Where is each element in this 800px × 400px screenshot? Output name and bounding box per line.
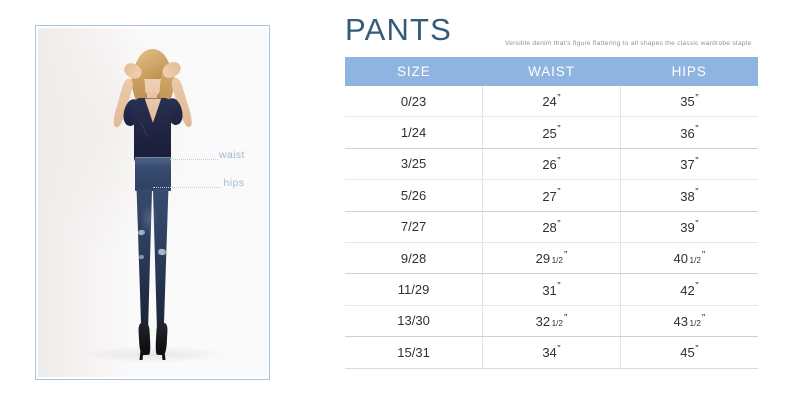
table-row: 7/2728”39” (345, 211, 758, 242)
cell-size: 1/24 (345, 117, 483, 148)
cell-hips: 42” (620, 274, 758, 305)
hips-label: hips (223, 177, 244, 189)
cell-hips: 39” (620, 211, 758, 242)
model-figure (38, 28, 267, 377)
boot-heel-left (139, 350, 144, 360)
inch-symbol: ” (557, 156, 560, 167)
cell-size: 5/26 (345, 180, 483, 211)
inch-symbol: ” (557, 344, 560, 355)
table-body: 0/2324”35”1/2425”36”3/2526”37”5/2627”38”… (345, 86, 758, 368)
fraction: 1/2 (690, 256, 701, 265)
page-subtitle: Versitile denim that's figure flattering… (505, 40, 751, 47)
table-row: 13/30321/2”431/2” (345, 305, 758, 336)
inch-symbol: ” (695, 344, 698, 355)
cell-waist: 27” (483, 180, 621, 211)
inch-symbol: ” (695, 93, 698, 104)
table-row: 9/28291/2”401/2” (345, 242, 758, 273)
cell-size: 9/28 (345, 242, 483, 273)
inch-symbol: ” (695, 156, 698, 167)
page-title: PANTS (345, 14, 452, 45)
fraction: 1/2 (690, 319, 701, 328)
cell-hips: 45” (620, 337, 758, 368)
denim-rip-2 (158, 248, 166, 255)
inch-symbol: ” (564, 313, 567, 324)
cell-size: 13/30 (345, 305, 483, 336)
cell-waist: 321/2” (483, 305, 621, 336)
chart-header: PANTS Versitile denim that's figure flat… (345, 14, 758, 45)
inch-symbol: ” (702, 313, 705, 324)
inch-symbol: ” (702, 250, 705, 261)
cell-waist: 291/2” (483, 242, 621, 273)
waist-leader-line (170, 159, 218, 160)
fraction: 1/2 (552, 256, 563, 265)
table-row: 0/2324”35” (345, 86, 758, 117)
cell-size: 11/29 (345, 274, 483, 305)
table-row: 11/2931”42” (345, 274, 758, 305)
inch-symbol: ” (695, 187, 698, 198)
table-row: 5/2627”38” (345, 180, 758, 211)
cell-waist: 26” (483, 148, 621, 179)
size-chart-table: SIZE WAIST HIPS 0/2324”35”1/2425”36”3/25… (345, 57, 758, 369)
table-header-row: SIZE WAIST HIPS (345, 57, 758, 86)
cell-waist: 31” (483, 274, 621, 305)
cell-hips: 401/2” (620, 242, 758, 273)
column-header-size: SIZE (345, 57, 483, 86)
table-row: 1/2425”36” (345, 117, 758, 148)
inch-symbol: ” (564, 250, 567, 261)
column-header-waist: WAIST (483, 57, 621, 86)
inch-symbol: ” (695, 124, 698, 135)
cell-hips: 37” (620, 148, 758, 179)
cell-waist: 28” (483, 211, 621, 242)
model-photo: waist hips (38, 28, 267, 377)
table-row: 15/3134”45” (345, 337, 758, 368)
cell-waist: 34” (483, 337, 621, 368)
size-chart-page: waist hips PANTS Versitile denim that's … (0, 0, 800, 400)
cell-size: 0/23 (345, 86, 483, 117)
table-row: 3/2526”37” (345, 148, 758, 179)
inch-symbol: ” (557, 93, 560, 104)
column-header-hips: HIPS (620, 57, 758, 86)
inch-symbol: ” (695, 281, 698, 292)
cell-hips: 36” (620, 117, 758, 148)
cell-size: 15/31 (345, 337, 483, 368)
cell-hips: 35” (620, 86, 758, 117)
cell-size: 7/27 (345, 211, 483, 242)
inch-symbol: ” (557, 281, 560, 292)
inch-symbol: ” (557, 187, 560, 198)
cell-hips: 431/2” (620, 305, 758, 336)
cell-waist: 25” (483, 117, 621, 148)
cell-size: 3/25 (345, 148, 483, 179)
cell-hips: 38” (620, 180, 758, 211)
table-header: SIZE WAIST HIPS (345, 57, 758, 86)
inch-symbol: ” (557, 219, 560, 230)
boot-heel-right (161, 350, 166, 360)
hips-leader-line (153, 187, 222, 188)
cell-waist: 24” (483, 86, 621, 117)
waist-label: waist (219, 149, 245, 161)
inch-symbol: ” (695, 219, 698, 230)
model-photo-frame: waist hips (35, 25, 270, 380)
inch-symbol: ” (557, 124, 560, 135)
jeans-waistband (135, 157, 171, 164)
fraction: 1/2 (552, 319, 563, 328)
